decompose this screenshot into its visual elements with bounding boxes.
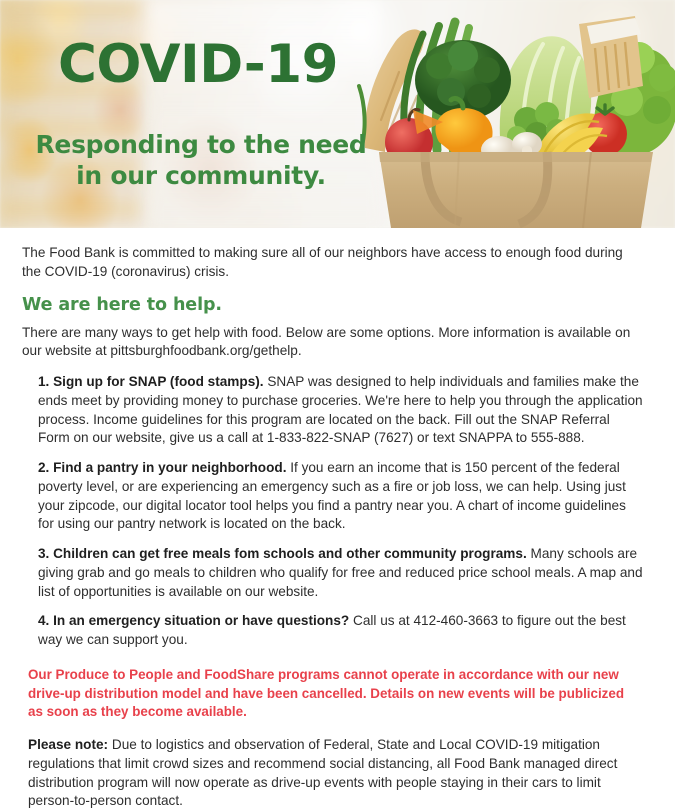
- main-content: The Food Bank is committed to making sur…: [0, 228, 675, 811]
- list-item: 1. Sign up for SNAP (food stamps). SNAP …: [38, 373, 645, 448]
- list-item-lead: 4. In an emergency situation or have que…: [38, 613, 349, 628]
- section-heading-help: We are here to help.: [22, 295, 645, 315]
- list-item: 2. Find a pantry in your neighborhood. I…: [38, 459, 645, 534]
- list-item: 4. In an emergency situation or have que…: [38, 612, 645, 650]
- lead-paragraph: There are many ways to get help with foo…: [22, 324, 645, 362]
- intro-paragraph: The Food Bank is committed to making sur…: [22, 244, 645, 282]
- banner-subtitle-line-2: in our community.: [31, 161, 371, 192]
- list-item-lead: 2. Find a pantry in your neighborhood.: [38, 460, 286, 475]
- please-note-text: Due to logistics and observation of Fede…: [28, 737, 617, 808]
- alert-notice: Our Produce to People and FoodShare prog…: [28, 666, 645, 722]
- banner-title: COVID-19: [58, 38, 338, 91]
- grocery-bag-photo: [351, 0, 675, 228]
- banner-subtitle: Responding to the need in our community.: [31, 130, 371, 191]
- please-note-lead: Please note:: [28, 737, 108, 752]
- please-note-paragraph: Please note: Due to logistics and observ…: [28, 736, 645, 811]
- list-item-lead: 1. Sign up for SNAP (food stamps).: [38, 374, 264, 389]
- header-banner: COVID-19 Responding to the need in our c…: [0, 0, 675, 228]
- list-item-lead: 3. Children can get free meals fom schoo…: [38, 546, 527, 561]
- banner-subtitle-line-1: Responding to the need: [31, 130, 371, 161]
- list-item: 3. Children can get free meals fom schoo…: [38, 545, 645, 601]
